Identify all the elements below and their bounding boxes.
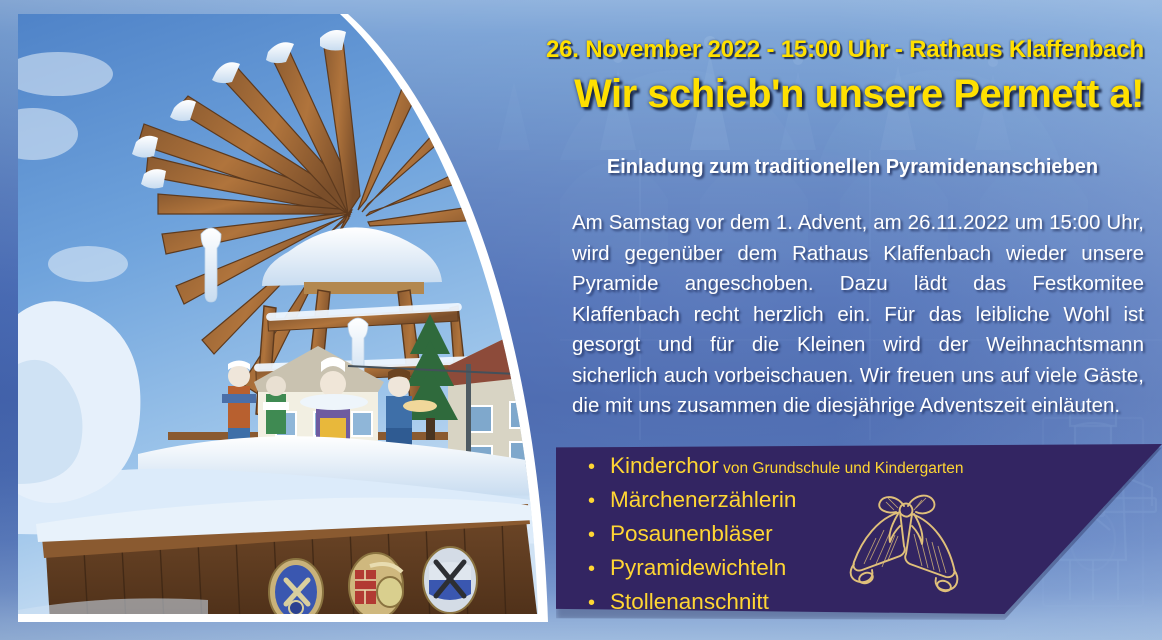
program-item-main: Märchenerzählerin [610,487,796,512]
body-text: Am Samstag vor dem 1. Advent, am 26.11.2… [572,208,1144,422]
program-item-sub: von Grundschule und Kindergarten [719,460,964,477]
bullet-icon: • [588,486,610,517]
bullet-icon: • [588,520,610,551]
program-item-main: Posaunenbläser [610,521,773,546]
program-item-main: Pyramidewichteln [610,555,786,580]
subheading: Einladung zum traditionellen Pyramidenan… [560,156,1145,179]
bullet-icon: • [588,554,610,585]
christmas-bells-icon [838,478,980,602]
page-title: Wir schieb'n unsere Permett a! [0,72,1144,117]
event-date-line: 26. November 2022 - 15:00 Uhr - Rathaus … [0,36,1144,64]
program-item-main: Stollenanschnitt [610,589,769,614]
bullet-icon: • [588,588,610,619]
program-item-main: Kinderchor [610,453,719,478]
bullet-icon: • [588,452,610,483]
poster-root: 26. November 2022 - 15:00 Uhr - Rathaus … [0,0,1162,640]
